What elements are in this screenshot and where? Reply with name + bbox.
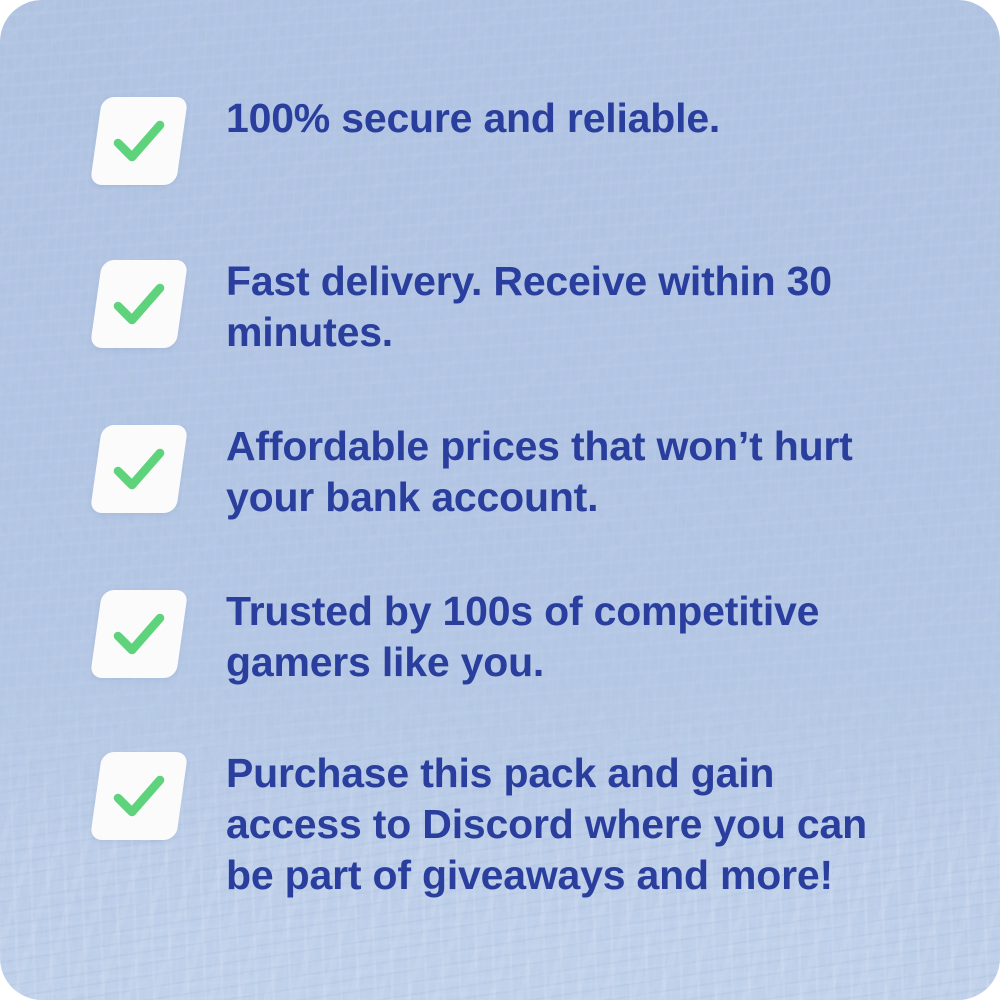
checkmark-icon [90, 425, 188, 513]
feature-item-label: 100% secure and reliable. [226, 93, 720, 144]
feature-item-label: Affordable prices that won’t hurt your b… [226, 421, 853, 523]
feature-item-label: Fast delivery. Receive within 30 minutes… [226, 256, 832, 358]
feature-list-card: 100% secure and reliable. Fast delivery.… [0, 0, 1000, 1000]
feature-item-label: Purchase this pack and gain access to Di… [226, 748, 867, 901]
feature-item-fast-delivery: Fast delivery. Receive within 30 minutes… [96, 256, 880, 358]
feature-item-affordable-prices: Affordable prices that won’t hurt your b… [96, 421, 880, 523]
feature-item-trusted-gamers: Trusted by 100s of competitive gamers li… [96, 586, 880, 688]
feature-item-discord-access: Purchase this pack and gain access to Di… [96, 748, 880, 901]
checkmark-icon [90, 97, 188, 185]
checkmark-icon [90, 590, 188, 678]
feature-item-label: Trusted by 100s of competitive gamers li… [226, 586, 819, 688]
feature-item-secure-reliable: 100% secure and reliable. [96, 93, 880, 185]
checkmark-icon [90, 752, 188, 840]
feature-list: 100% secure and reliable. Fast delivery.… [0, 0, 1000, 1000]
checkmark-icon [90, 260, 188, 348]
